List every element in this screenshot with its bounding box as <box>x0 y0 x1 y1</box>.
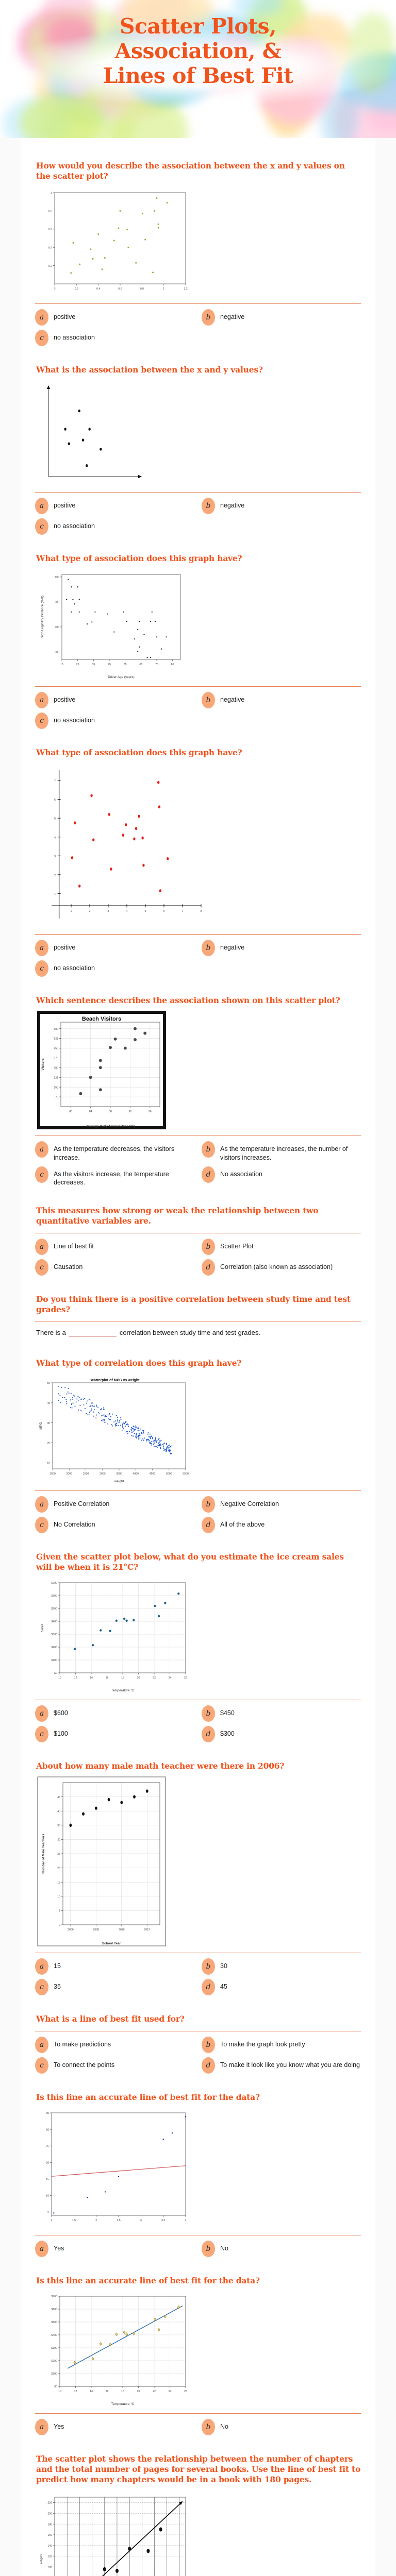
answer-option-c[interactable]: c$100 <box>35 1728 194 1742</box>
option-label: Scatter Plot <box>220 1241 254 1251</box>
option-letter-bubble[interactable]: c <box>35 330 48 346</box>
svg-text:4: 4 <box>126 910 128 913</box>
section-divider <box>35 2413 361 2414</box>
option-letter-bubble[interactable]: b <box>202 940 215 956</box>
svg-text:45: 45 <box>108 663 111 666</box>
option-letter-bubble[interactable]: a <box>35 498 48 514</box>
svg-text:450: 450 <box>54 1047 58 1050</box>
svg-text:7: 7 <box>182 910 184 913</box>
svg-text:$300: $300 <box>51 2347 57 2350</box>
option-letter-bubble[interactable]: b <box>202 498 215 514</box>
option-letter-bubble[interactable]: a <box>35 1705 48 1722</box>
svg-text:18: 18 <box>121 1676 124 1680</box>
scatter-plot-q2 <box>37 380 361 486</box>
option-label: no association <box>54 962 95 973</box>
svg-text:400: 400 <box>55 626 59 629</box>
answer-option-a[interactable]: aAs the temperature decreases, the visit… <box>35 1143 194 1162</box>
option-letter-bubble[interactable]: c <box>35 1517 48 1533</box>
option-label: To make predictions <box>54 2039 111 2049</box>
svg-text:$700: $700 <box>51 1582 57 1585</box>
scatter-plot-q10: 2006200820102012051015202530354045School… <box>37 1776 361 1946</box>
answer-option-a[interactable]: aYes <box>35 2243 194 2257</box>
question-prompt: What is a line of best fit used for? <box>36 2014 361 2024</box>
answer-option-d[interactable]: dNo association <box>202 1168 361 1188</box>
answer-option-b[interactable]: b$450 <box>202 1707 361 1722</box>
answer-option-b[interactable]: bnegative <box>202 942 361 956</box>
answer-options: aYesbNo <box>35 2243 361 2257</box>
scatter-plot-q5: Beach Visitors80848892967515022530037545… <box>37 1011 361 1129</box>
svg-text:0.6: 0.6 <box>48 228 52 231</box>
svg-text:375: 375 <box>54 1057 58 1060</box>
svg-text:26: 26 <box>184 1676 187 1680</box>
answer-option-c[interactable]: cno association <box>35 962 194 977</box>
option-label: positive <box>54 942 75 952</box>
question-prompt: The scatter plot shows the relationship … <box>36 2454 361 2485</box>
answer-option-d[interactable]: dAll of the above <box>202 1519 361 1533</box>
svg-text:35: 35 <box>57 1824 60 1827</box>
option-letter-bubble[interactable]: b <box>202 692 215 708</box>
svg-text:0: 0 <box>54 287 56 291</box>
svg-text:10: 10 <box>58 2390 61 2393</box>
svg-text:2010: 2010 <box>119 1928 125 1931</box>
option-label: negative <box>220 942 244 952</box>
option-letter-bubble[interactable]: c <box>35 1166 48 1183</box>
question-block: What type of association does this graph… <box>35 734 361 982</box>
svg-text:$400: $400 <box>51 1621 57 1624</box>
answer-option-d[interactable]: dCorrelation (also known as association) <box>202 1261 361 1276</box>
question-block: What type of association does this graph… <box>35 540 361 734</box>
section-divider <box>35 2031 361 2031</box>
option-label: 30 <box>220 1960 227 1971</box>
answer-option-b[interactable]: bAs the temperature increases, the numbe… <box>202 1143 361 1162</box>
option-letter-bubble[interactable]: a <box>35 1239 48 1255</box>
answer-option-b[interactable]: bNegative Correlation <box>202 1498 361 1513</box>
answer-options: apositivebnegativecno association <box>35 500 361 535</box>
svg-text:Sign Legibility Distance (feet: Sign Legibility Distance (feet) <box>41 596 44 638</box>
svg-text:0.6: 0.6 <box>118 287 122 291</box>
svg-text:35: 35 <box>46 2112 49 2115</box>
svg-text:$600: $600 <box>51 2308 57 2311</box>
answer-option-a[interactable]: apositive <box>35 311 194 326</box>
svg-text:100: 100 <box>47 2566 52 2569</box>
question-block: About how many male math teacher were th… <box>35 1748 361 2001</box>
answer-option-a[interactable]: a15 <box>35 1960 194 1975</box>
svg-text:25: 25 <box>46 2145 49 2148</box>
svg-text:$0: $0 <box>54 1672 57 1675</box>
svg-text:1: 1 <box>71 910 72 913</box>
svg-text:85: 85 <box>171 663 174 666</box>
svg-text:$100: $100 <box>51 1659 57 1663</box>
answer-option-a[interactable]: apositive <box>35 942 194 956</box>
svg-text:18: 18 <box>121 2390 124 2393</box>
svg-text:5: 5 <box>47 2211 49 2214</box>
svg-text:14: 14 <box>90 1676 93 1680</box>
scatter-plot-q3: 1525354555657585300400500600Driver Age (… <box>37 569 361 680</box>
option-letter-bubble[interactable]: c <box>35 960 48 977</box>
svg-text:30: 30 <box>57 1839 60 1842</box>
svg-text:22: 22 <box>153 1676 156 1680</box>
question-block: What is the association between the x an… <box>35 351 361 540</box>
option-letter-bubble[interactable]: c <box>35 518 48 535</box>
option-letter-bubble[interactable]: a <box>35 1141 48 1158</box>
svg-text:2006: 2006 <box>68 1928 74 1931</box>
svg-text:0.8: 0.8 <box>48 210 52 213</box>
svg-text:10: 10 <box>46 2194 49 2197</box>
svg-text:3: 3 <box>140 2219 142 2222</box>
svg-text:25: 25 <box>76 663 79 666</box>
section-divider <box>35 2235 361 2235</box>
svg-text:8: 8 <box>201 910 202 913</box>
svg-text:180: 180 <box>47 2523 52 2527</box>
option-letter-bubble[interactable]: a <box>35 1958 48 1975</box>
option-label: Yes <box>54 2421 64 2431</box>
svg-text:$200: $200 <box>51 2360 57 2363</box>
question-block: Is this line an accurate line of best fi… <box>35 2079 361 2262</box>
option-letter-bubble[interactable]: b <box>202 2037 215 2053</box>
section-divider <box>35 1136 361 1136</box>
svg-text:2000: 2000 <box>66 1472 72 1476</box>
option-letter-bubble[interactable]: b <box>202 2241 215 2257</box>
svg-text:3: 3 <box>54 855 56 858</box>
svg-text:Sales: Sales <box>41 1623 44 1632</box>
svg-text:2: 2 <box>95 2219 97 2222</box>
question-prompt: Given the scatter plot below, what do yo… <box>36 1552 361 1572</box>
answer-option-c[interactable]: cCausation <box>35 1261 194 1276</box>
svg-text:30: 30 <box>46 2128 49 2131</box>
option-letter-bubble[interactable]: b <box>202 1141 215 1158</box>
svg-text:10: 10 <box>47 1462 50 1465</box>
option-letter-bubble[interactable]: b <box>202 1496 215 1513</box>
answer-options: aYesbNo <box>35 2421 361 2435</box>
question-block: How would you describe the association b… <box>35 147 361 351</box>
option-label: 45 <box>220 1981 227 1991</box>
option-label: Causation <box>54 1261 82 1272</box>
answer-options: aPositive CorrelationbNegative Correlati… <box>35 1498 361 1533</box>
answer-option-a[interactable]: aPositive Correlation <box>35 1498 194 1513</box>
section-divider <box>35 686 361 687</box>
question-prompt: This measures how strong or weak the rel… <box>36 1206 361 1226</box>
option-letter-bubble[interactable]: a <box>35 2241 48 2257</box>
answer-option-a[interactable]: apositive <box>35 500 194 514</box>
answer-option-c[interactable]: cNo Correlation <box>35 1519 194 1533</box>
svg-text:0.4: 0.4 <box>96 287 100 291</box>
answer-option-b[interactable]: bScatter Plot <box>202 1241 361 1255</box>
option-label: Correlation (also known as association) <box>220 1261 333 1272</box>
svg-text:80: 80 <box>69 1110 72 1113</box>
svg-text:14: 14 <box>90 2390 93 2393</box>
option-label: No <box>220 2421 228 2431</box>
svg-text:4000: 4000 <box>133 1472 139 1476</box>
option-letter-bubble[interactable]: c <box>35 1726 48 1742</box>
answer-option-a[interactable]: aYes <box>35 2421 194 2435</box>
section-divider <box>35 1700 361 1700</box>
svg-text:$0: $0 <box>54 2385 57 2388</box>
answer-option-a[interactable]: aLine of best fit <box>35 1241 194 1255</box>
question-block: What is a line of best fit used for?aTo … <box>35 2001 361 2078</box>
option-letter-bubble[interactable]: b <box>202 2419 215 2435</box>
svg-text:300: 300 <box>55 651 59 654</box>
svg-text:160: 160 <box>47 2534 52 2537</box>
svg-text:Average Daily Temperature (°F): Average Daily Temperature (°F) <box>86 1124 135 1128</box>
svg-text:140: 140 <box>47 2545 52 2548</box>
question-block: The scatter plot shows the relationship … <box>35 2441 361 2576</box>
question-block: Is this line an accurate line of best fi… <box>35 2262 361 2441</box>
svg-text:20: 20 <box>57 1867 60 1870</box>
svg-text:0.4: 0.4 <box>48 247 52 250</box>
option-label: All of the above <box>220 1519 265 1529</box>
section-divider <box>35 303 361 304</box>
svg-text:65: 65 <box>139 663 142 666</box>
option-letter-bubble[interactable]: b <box>202 1705 215 1722</box>
svg-text:$400: $400 <box>51 2334 57 2337</box>
svg-text:7: 7 <box>54 779 56 783</box>
answer-options: a15b30c35d45 <box>35 1960 361 1995</box>
answer-option-a[interactable]: apositive <box>35 694 194 708</box>
answer-options: a$600b$450c$100d$300 <box>35 1707 361 1742</box>
option-label: Line of best fit <box>54 1241 94 1251</box>
svg-text:5: 5 <box>59 1910 60 1913</box>
answer-option-d[interactable]: dTo make it look like you know what you … <box>202 2059 361 2074</box>
svg-text:92: 92 <box>129 1110 132 1113</box>
svg-text:15: 15 <box>46 2178 49 2181</box>
svg-text:96: 96 <box>148 1110 152 1113</box>
answer-option-b[interactable]: bTo make the graph look pretty <box>202 2039 361 2053</box>
svg-text:2: 2 <box>89 910 91 913</box>
option-letter-bubble[interactable]: d <box>202 1517 215 1533</box>
svg-text:6: 6 <box>163 910 165 913</box>
question-block: Which sentence describes the association… <box>35 982 361 1193</box>
svg-text:88: 88 <box>109 1110 112 1113</box>
section-divider <box>35 1321 361 1321</box>
option-label: No Correlation <box>54 1519 95 1529</box>
answer-option-b[interactable]: bnegative <box>202 311 361 326</box>
question-prompt: Do you think there is a positive correla… <box>36 1294 361 1315</box>
question-prompt: How would you describe the association b… <box>36 161 361 181</box>
svg-text:600: 600 <box>55 576 59 579</box>
option-label: positive <box>54 311 75 321</box>
svg-text:50: 50 <box>47 1382 50 1385</box>
option-letter-bubble[interactable]: b <box>202 1239 215 1255</box>
question-prompt: About how many male math teacher were th… <box>36 1761 361 1771</box>
quiz-sheet: How would you describe the association b… <box>0 138 396 2576</box>
svg-text:3.5: 3.5 <box>161 2219 165 2222</box>
svg-text:3: 3 <box>108 910 109 913</box>
answer-option-c[interactable]: c35 <box>35 1981 194 1995</box>
svg-text:$500: $500 <box>51 2321 57 2324</box>
option-letter-bubble[interactable]: a <box>35 2419 48 2435</box>
svg-text:35: 35 <box>92 663 95 666</box>
option-label: $600 <box>54 1707 68 1718</box>
svg-text:2012: 2012 <box>144 1928 150 1931</box>
svg-text:5: 5 <box>54 817 56 820</box>
option-letter-bubble[interactable]: d <box>202 1259 215 1276</box>
option-label: To make it look like you know what you a… <box>220 2059 360 2070</box>
svg-text:$700: $700 <box>51 2295 57 2298</box>
question-prompt: What type of correlation does this graph… <box>36 1358 361 1368</box>
svg-text:120: 120 <box>47 2555 52 2558</box>
option-label: As the temperature increases, the number… <box>220 1143 361 1162</box>
section-divider <box>35 1233 361 1233</box>
option-label: Positive Correlation <box>54 1498 109 1509</box>
option-label: $100 <box>54 1728 68 1738</box>
header-banner: Scatter Plots,Association, &Lines of Bes… <box>0 0 396 138</box>
svg-text:5: 5 <box>145 910 146 913</box>
answer-option-b[interactable]: bnegative <box>202 500 361 514</box>
svg-text:75: 75 <box>155 663 158 666</box>
option-label: negative <box>220 500 244 510</box>
answer-option-a[interactable]: aTo make predictions <box>35 2039 194 2053</box>
scatter-plot-q13: 101214161820222426$0$100$200$300$400$500… <box>37 2291 361 2407</box>
option-letter-bubble[interactable]: d <box>202 1979 215 1995</box>
option-letter-bubble[interactable]: b <box>202 309 215 326</box>
option-letter-bubble[interactable]: a <box>35 2037 48 2053</box>
answer-option-a[interactable]: a$600 <box>35 1707 194 1722</box>
svg-text:525: 525 <box>54 1038 58 1041</box>
svg-text:10: 10 <box>57 1895 60 1899</box>
answer-option-c[interactable]: cno association <box>35 715 194 729</box>
svg-text:0.8: 0.8 <box>140 287 144 291</box>
option-letter-bubble[interactable]: c <box>35 2057 48 2074</box>
svg-text:15: 15 <box>60 663 63 666</box>
option-label: no association <box>54 715 95 725</box>
option-label: $450 <box>220 1707 235 1718</box>
option-letter-bubble[interactable]: d <box>202 1726 215 1742</box>
option-label: negative <box>220 694 244 704</box>
scatter-plot-q12: 11.522.533.545101520253035 <box>37 2108 361 2229</box>
option-letter-bubble[interactable]: b <box>202 1958 215 1975</box>
option-letter-bubble[interactable]: c <box>35 1259 48 1276</box>
svg-text:0: 0 <box>59 1924 60 1927</box>
scatter-plot-q8: Scatterplot of MPG vs weight150020002500… <box>37 1374 361 1484</box>
svg-text:School Year: School Year <box>102 1942 121 1945</box>
svg-text:Visitors: Visitors <box>41 1058 45 1071</box>
option-letter-bubble[interactable]: c <box>35 1979 48 1995</box>
question-prompt: What type of association does this graph… <box>36 553 361 564</box>
option-label: To connect the points <box>54 2059 114 2070</box>
answer-blank-input[interactable] <box>69 1329 117 1336</box>
option-letter-bubble[interactable]: c <box>35 713 48 729</box>
svg-text:20: 20 <box>47 1442 50 1445</box>
svg-text:20: 20 <box>137 1676 140 1680</box>
section-divider <box>35 934 361 935</box>
answer-option-c[interactable]: cAs the visitors increase, the temperatu… <box>35 1168 194 1188</box>
svg-text:Driver Age (years): Driver Age (years) <box>108 675 135 679</box>
section-divider <box>35 1953 361 1953</box>
answer-option-c[interactable]: cno association <box>35 332 194 346</box>
svg-text:1: 1 <box>51 192 52 195</box>
option-label: $300 <box>220 1728 235 1738</box>
svg-text:5000: 5000 <box>166 1472 172 1476</box>
option-label: no association <box>54 332 95 342</box>
question-block: What type of correlation does this graph… <box>35 1345 361 1538</box>
svg-text:225: 225 <box>54 1076 58 1079</box>
svg-text:0.2: 0.2 <box>48 265 52 268</box>
svg-text:24: 24 <box>169 1676 172 1680</box>
svg-text:220: 220 <box>47 2502 52 2505</box>
answer-options: aAs the temperature decreases, the visit… <box>35 1143 361 1188</box>
svg-text:150: 150 <box>54 1086 58 1089</box>
question-block: This measures how strong or weak the rel… <box>35 1192 361 1280</box>
svg-text:2: 2 <box>54 874 56 877</box>
option-label: No <box>220 2243 228 2253</box>
option-label: Yes <box>54 2243 64 2253</box>
svg-text:1500: 1500 <box>49 1472 56 1476</box>
svg-text:20: 20 <box>137 2390 140 2393</box>
svg-text:10: 10 <box>58 1676 61 1680</box>
scatter-plot-q9: 101214161820222426$0$100$200$300$400$500… <box>37 1578 361 1693</box>
option-letter-bubble[interactable]: a <box>35 309 48 326</box>
svg-text:MPG: MPG <box>39 1422 43 1430</box>
svg-text:12: 12 <box>74 1676 77 1680</box>
option-label: 35 <box>54 1981 61 1991</box>
svg-text:4: 4 <box>54 836 56 839</box>
answer-option-d[interactable]: d45 <box>202 1981 361 1995</box>
svg-text:16: 16 <box>106 2390 109 2393</box>
svg-text:55: 55 <box>124 663 127 666</box>
option-letter-bubble[interactable]: d <box>202 2057 215 2074</box>
answer-option-d[interactable]: d$300 <box>202 1728 361 1742</box>
question-prompt: What is the association between the x an… <box>36 365 361 375</box>
sentence-suffix: correlation between study time and test … <box>120 1329 260 1336</box>
svg-text:weight: weight <box>114 1480 124 1483</box>
svg-text:1: 1 <box>163 287 164 291</box>
question-prompt: What type of association does this graph… <box>36 748 361 758</box>
svg-text:0.2: 0.2 <box>75 287 78 291</box>
option-letter-bubble[interactable]: a <box>35 940 48 956</box>
svg-text:$300: $300 <box>51 1634 57 1637</box>
svg-text:$500: $500 <box>51 1608 57 1611</box>
answer-option-b[interactable]: bnegative <box>202 694 361 708</box>
option-letter-bubble[interactable]: a <box>35 1496 48 1513</box>
option-letter-bubble[interactable]: d <box>202 1166 215 1183</box>
option-label: To make the graph look pretty <box>220 2039 305 2049</box>
question-prompt: Is this line an accurate line of best fi… <box>36 2092 361 2103</box>
quiz-card: How would you describe the association b… <box>21 138 375 2576</box>
answer-options: aTo make predictionsbTo make the graph l… <box>35 2039 361 2074</box>
svg-text:1: 1 <box>51 2219 53 2222</box>
option-label: positive <box>54 694 75 704</box>
option-label: positive <box>54 500 75 510</box>
svg-text:40: 40 <box>57 1810 60 1814</box>
svg-text:1.5: 1.5 <box>72 2219 76 2222</box>
svg-text:Temperature °C: Temperature °C <box>111 2402 135 2406</box>
svg-text:75: 75 <box>55 1096 58 1099</box>
svg-text:16: 16 <box>106 1676 109 1680</box>
svg-text:600: 600 <box>54 1028 58 1031</box>
answer-option-c[interactable]: cno association <box>35 520 194 535</box>
option-letter-bubble[interactable]: a <box>35 692 48 708</box>
answer-option-b[interactable]: bNo <box>202 2421 361 2435</box>
svg-text:$200: $200 <box>51 1647 57 1650</box>
svg-text:200: 200 <box>47 2513 52 2516</box>
option-label: negative <box>220 311 244 321</box>
question-prompt: Is this line an accurate line of best fi… <box>36 2276 361 2286</box>
svg-text:500: 500 <box>55 601 59 604</box>
option-label: no association <box>54 520 95 531</box>
sentence-prefix: There is a <box>36 1329 66 1336</box>
answer-option-b[interactable]: bNo <box>202 2243 361 2257</box>
svg-text:Scatterplot of MPG vs weight: Scatterplot of MPG vs weight <box>90 1379 140 1382</box>
answer-option-c[interactable]: cTo connect the points <box>35 2059 194 2074</box>
svg-text:3500: 3500 <box>116 1472 122 1476</box>
option-label: No association <box>220 1168 262 1179</box>
svg-text:24: 24 <box>169 2390 172 2393</box>
option-label: As the temperature decreases, the visito… <box>54 1143 194 1162</box>
svg-text:4: 4 <box>185 2219 187 2222</box>
svg-text:6: 6 <box>54 799 56 802</box>
answer-option-b[interactable]: b30 <box>202 1960 361 1975</box>
svg-text:40: 40 <box>47 1402 50 1405</box>
